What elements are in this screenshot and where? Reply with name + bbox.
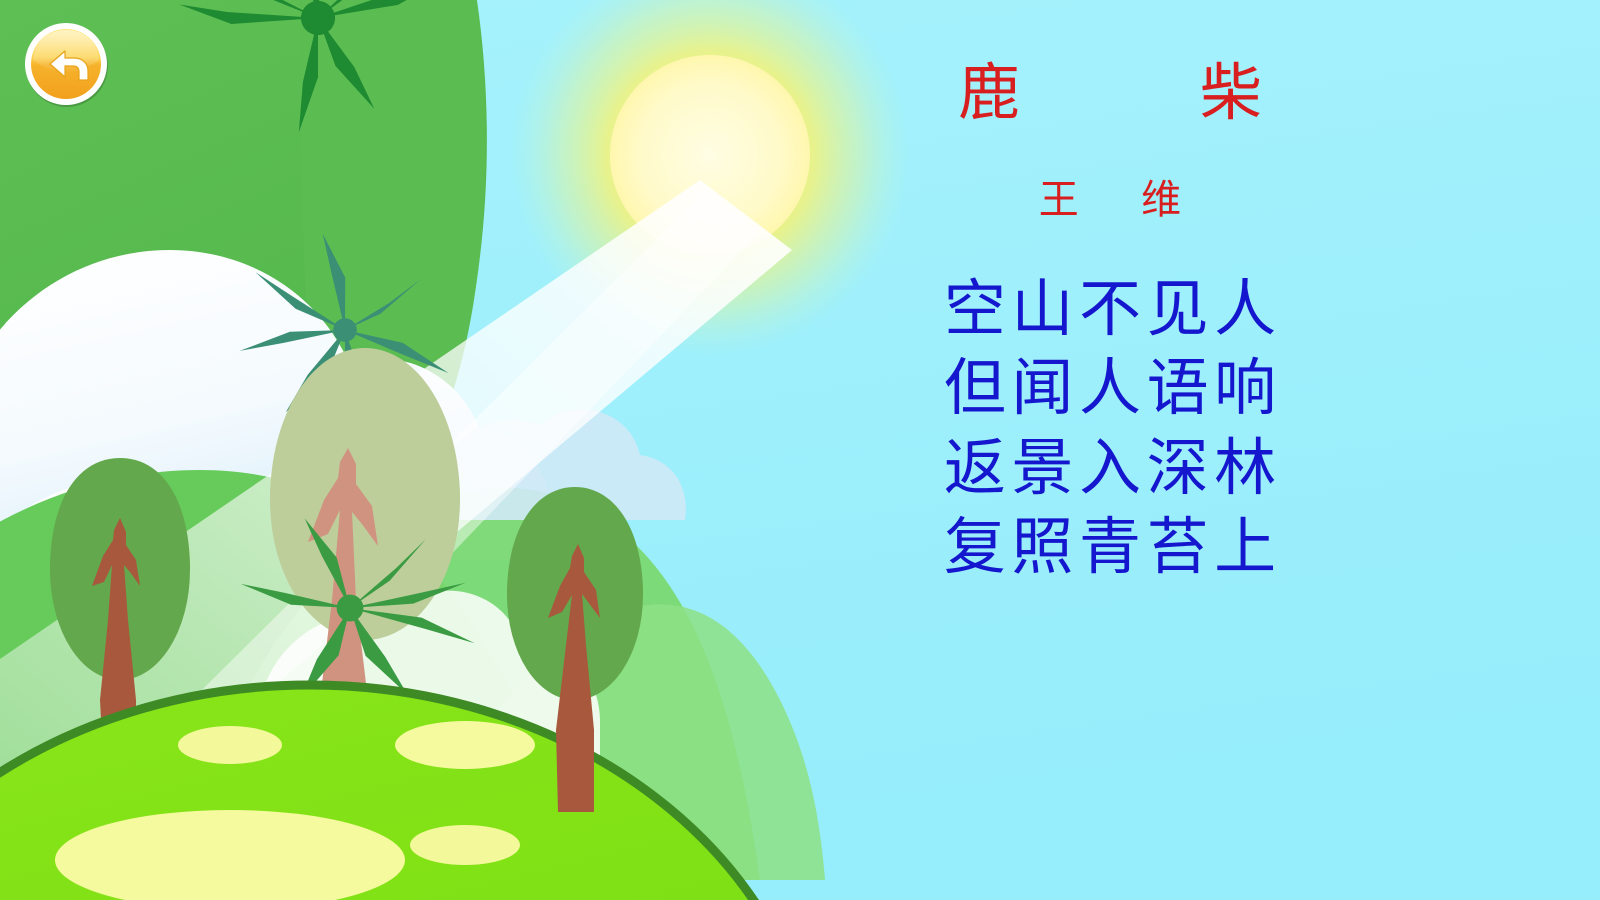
poem-line: 复照青苔上	[860, 507, 1360, 586]
back-arrow-icon[interactable]	[22, 20, 110, 108]
poem-line: 返景入深林	[860, 428, 1360, 507]
grass-patch	[178, 726, 282, 764]
back-button[interactable]	[22, 20, 110, 108]
grass-patch	[395, 721, 535, 769]
app-screen: 鹿 柴 王 维 空山不见人 但闻人语响 返景入深林 复照青苔上	[0, 0, 1600, 900]
poem-title: 鹿 柴	[860, 60, 1360, 125]
poem-panel: 鹿 柴 王 维 空山不见人 但闻人语响 返景入深林 复照青苔上	[860, 60, 1360, 587]
illustration-scene	[0, 0, 1600, 900]
poem-line: 但闻人语响	[860, 348, 1360, 427]
poem-author: 王 维	[860, 179, 1360, 221]
poem-body: 空山不见人 但闻人语响 返景入深林 复照青苔上	[860, 269, 1360, 586]
poem-line: 空山不见人	[860, 269, 1360, 348]
grass-patch	[410, 825, 520, 865]
